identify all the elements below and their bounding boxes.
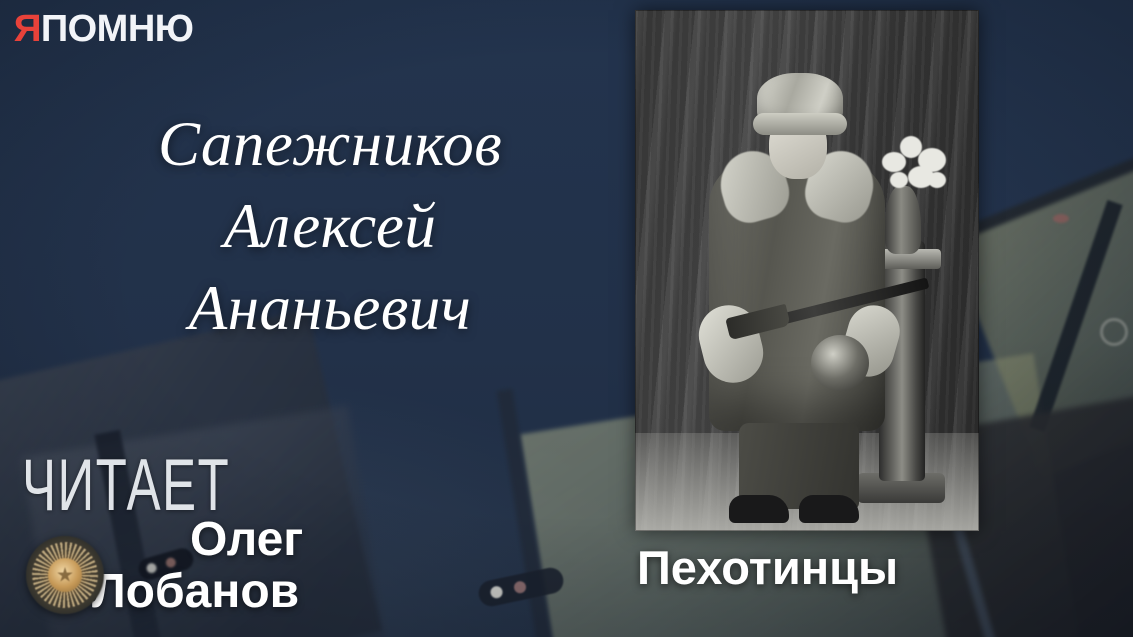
reads-label: ЧИТАЕТ bbox=[22, 449, 230, 522]
photo-ppsh-drum-magazine bbox=[811, 335, 869, 391]
veteran-patronymic: Ананьевич bbox=[70, 268, 590, 350]
photo-caption: Пехотинцы bbox=[637, 544, 898, 591]
veteran-name-title: Сапежников Алексей Ананьевич bbox=[70, 104, 590, 350]
photo-soldier-ushanka-flap bbox=[753, 113, 847, 135]
order-medal-icon bbox=[26, 536, 104, 614]
background-map-marker bbox=[1053, 214, 1069, 223]
photo-soldier-boot-right bbox=[799, 495, 859, 523]
brand-logo[interactable]: Я ПОМНЮ bbox=[14, 10, 193, 48]
reader-first-name: Олег bbox=[190, 516, 303, 564]
brand-logo-text: ПОМНЮ bbox=[41, 10, 194, 48]
veteran-first-name: Алексей bbox=[70, 186, 590, 268]
background-metal-ring bbox=[1100, 318, 1128, 346]
photo-soldier-boot-left bbox=[729, 495, 789, 523]
reader-last-name: Лобанов bbox=[92, 568, 299, 616]
video-title-card: Я ПОМНЮ Сапежников Алексей Ананьевич bbox=[0, 0, 1133, 637]
brand-logo-accent: Я bbox=[14, 10, 41, 48]
veteran-surname: Сапежников bbox=[70, 104, 590, 186]
veteran-photo bbox=[635, 10, 979, 531]
photo-soldier bbox=[695, 55, 905, 525]
